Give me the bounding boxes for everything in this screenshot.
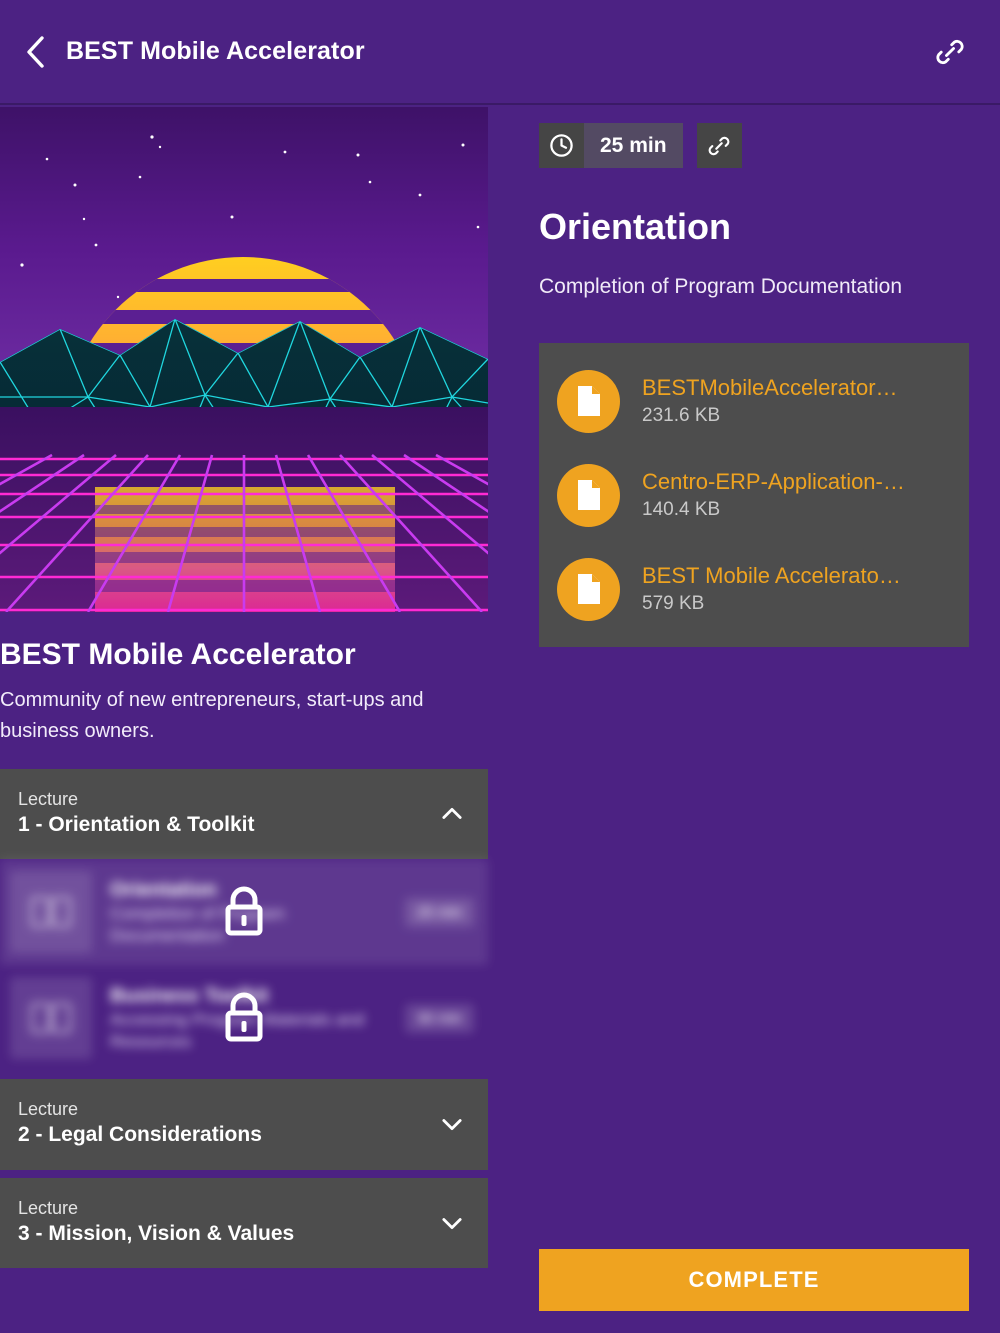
course-description: Community of new entrepreneurs, start-up… bbox=[0, 673, 488, 747]
attachment-text: BEST Mobile Accelerato… 579 KB bbox=[620, 563, 901, 615]
attachment-item[interactable]: BESTMobileAccelerator… 231.6 KB bbox=[557, 365, 951, 437]
section-divider bbox=[0, 1071, 488, 1079]
lesson-thumbnail bbox=[10, 871, 92, 953]
retrowave-artwork bbox=[0, 107, 488, 612]
attachment-name: Centro-ERP-Application-… bbox=[642, 469, 905, 495]
chevron-down-icon bbox=[438, 1209, 466, 1237]
lesson-list-1: Orientation Completion of Program Docume… bbox=[0, 859, 488, 1071]
section-kicker: Lecture bbox=[18, 1196, 428, 1220]
document-icon bbox=[574, 478, 604, 512]
book-icon bbox=[29, 894, 73, 930]
duration-badge: 25 min bbox=[539, 123, 683, 168]
attachment-name: BEST Mobile Accelerato… bbox=[642, 563, 901, 589]
section-divider bbox=[0, 1170, 488, 1178]
lesson-text: Orientation Completion of Program Docume… bbox=[92, 877, 395, 948]
lesson-duration: 30 min bbox=[405, 1004, 474, 1033]
document-icon-wrap bbox=[557, 464, 620, 527]
lesson-link-button[interactable] bbox=[697, 123, 742, 168]
course-panel: BEST Mobile Accelerator Community of new… bbox=[0, 107, 488, 1333]
attachment-item[interactable]: BEST Mobile Accelerato… 579 KB bbox=[557, 553, 951, 625]
clock-icon bbox=[548, 132, 575, 159]
attachment-text: BESTMobileAccelerator… 231.6 KB bbox=[620, 375, 898, 427]
lesson-subtitle: Completion of Program Documentation bbox=[110, 903, 395, 948]
lesson-detail-screen: BEST Mobile Accelerator bbox=[0, 0, 1000, 1333]
document-icon-wrap bbox=[557, 370, 620, 433]
section-kicker: Lecture bbox=[18, 787, 428, 811]
lesson-text: Business Toolkit Accessing Program Mater… bbox=[92, 983, 395, 1054]
duration-label: 25 min bbox=[584, 123, 683, 168]
document-icon bbox=[574, 384, 604, 418]
lesson-detail-panel: 25 min Orientation Completion of Program… bbox=[539, 107, 969, 1333]
section-header-3[interactable]: Lecture 3 - Mission, Vision & Values bbox=[0, 1178, 488, 1269]
lecture-accordion: Lecture 1 - Orientation & Toolkit bbox=[0, 769, 488, 1269]
attachment-name: BESTMobileAccelerator… bbox=[642, 375, 898, 401]
attachment-item[interactable]: Centro-ERP-Application-… 140.4 KB bbox=[557, 459, 951, 531]
lesson-duration: 25 min bbox=[405, 898, 474, 927]
section-header-2[interactable]: Lecture 2 - Legal Considerations bbox=[0, 1079, 488, 1170]
lesson-detail-subtitle: Completion of Program Documentation bbox=[539, 275, 969, 299]
link-icon bbox=[706, 133, 732, 159]
lesson-thumbnail bbox=[10, 977, 92, 1059]
lesson-name: Orientation bbox=[110, 877, 395, 903]
share-link-button[interactable] bbox=[924, 26, 976, 78]
chevron-down-icon bbox=[438, 1110, 466, 1138]
attachment-size: 231.6 KB bbox=[642, 405, 898, 427]
course-title: BEST Mobile Accelerator bbox=[0, 612, 488, 673]
section-header-1[interactable]: Lecture 1 - Orientation & Toolkit bbox=[0, 769, 488, 860]
neon-grid bbox=[0, 407, 488, 612]
attachment-size: 140.4 KB bbox=[642, 499, 905, 521]
lesson-meta-row: 25 min bbox=[539, 123, 969, 168]
document-icon-wrap bbox=[557, 558, 620, 621]
complete-button[interactable]: COMPLETE bbox=[539, 1249, 969, 1311]
book-icon bbox=[29, 1000, 73, 1036]
section-title: 1 - Orientation & Toolkit bbox=[18, 811, 428, 839]
section-kicker: Lecture bbox=[18, 1097, 428, 1121]
lesson-subtitle: Accessing Program Materials and Resource… bbox=[110, 1009, 395, 1054]
attachment-text: Centro-ERP-Application-… 140.4 KB bbox=[620, 469, 905, 521]
section-title: 2 - Legal Considerations bbox=[18, 1121, 428, 1149]
clock-icon-wrap bbox=[539, 123, 584, 168]
chevron-left-icon bbox=[24, 35, 48, 69]
attachments-card: BESTMobileAccelerator… 231.6 KB Centro-E… bbox=[539, 343, 969, 647]
section-title: 3 - Mission, Vision & Values bbox=[18, 1220, 428, 1248]
chevron-up-icon bbox=[438, 800, 466, 828]
lesson-row[interactable]: Business Toolkit Accessing Program Mater… bbox=[0, 965, 488, 1071]
back-button[interactable] bbox=[8, 24, 64, 80]
document-icon bbox=[574, 572, 604, 606]
lesson-name: Business Toolkit bbox=[110, 983, 395, 1009]
attachment-size: 579 KB bbox=[642, 593, 901, 615]
link-icon bbox=[933, 35, 967, 69]
lesson-row[interactable]: Orientation Completion of Program Docume… bbox=[0, 859, 488, 965]
lesson-detail-title: Orientation bbox=[539, 206, 969, 248]
course-hero-image bbox=[0, 107, 488, 612]
app-header: BEST Mobile Accelerator bbox=[0, 0, 1000, 105]
page-title: BEST Mobile Accelerator bbox=[66, 37, 365, 66]
